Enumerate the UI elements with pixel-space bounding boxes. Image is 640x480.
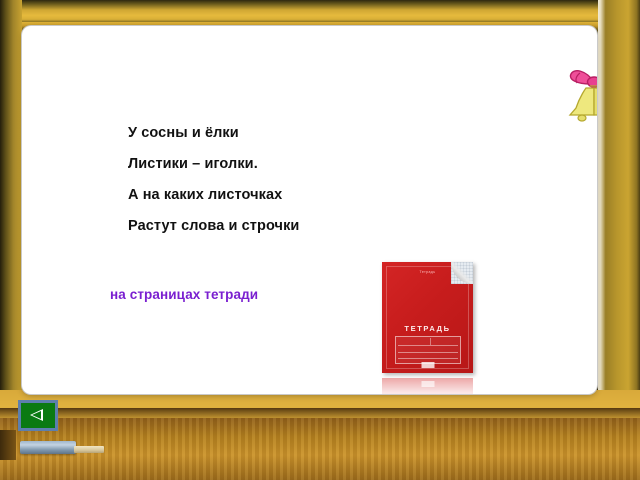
notebook-form-row — [398, 352, 458, 353]
slide-stage: У сосны и ёлки Листики – иголки. А на ка… — [0, 0, 640, 480]
notebook-form-row — [398, 345, 458, 346]
notebook-form-divider — [430, 338, 431, 345]
board-marker-tip — [74, 446, 104, 453]
whiteboard: У сосны и ёлки Листики – иголки. А на ка… — [22, 26, 597, 394]
notebook-name-form — [395, 336, 461, 364]
poem-line-3: А на каких листочках — [128, 180, 458, 211]
answer-text: на страницах тетради — [110, 287, 258, 302]
notebook-title: ТЕТРАДЬ — [382, 324, 473, 333]
bells-icon — [562, 60, 597, 126]
notebook-reflection-logo — [421, 381, 434, 387]
poem-line-2: Листики – иголки. — [128, 149, 458, 180]
poem-line-4: Растут слова и строчки — [128, 211, 458, 242]
poem-line-1: У сосны и ёлки — [128, 118, 458, 149]
frame-bottom-rail — [0, 390, 640, 480]
notebook-top-mark: Тетрадь — [420, 270, 436, 274]
back-button[interactable] — [18, 400, 58, 431]
notebook-cover: Тетрадь ТЕТРАДЬ — [382, 262, 473, 373]
frame-top-rail — [0, 0, 640, 22]
notebook-logo — [421, 362, 434, 368]
tray-left-edge — [0, 430, 16, 460]
board-marker[interactable] — [20, 441, 76, 454]
notebook-illustration: Тетрадь ТЕТРАДЬ — [380, 262, 496, 384]
notebook-reflection — [382, 378, 473, 394]
notebook-form-row — [398, 358, 458, 359]
back-arrow-inner-icon — [32, 411, 41, 419]
poem-block: У сосны и ёлки Листики – иголки. А на ка… — [128, 118, 458, 242]
tray-shadow — [0, 408, 640, 418]
